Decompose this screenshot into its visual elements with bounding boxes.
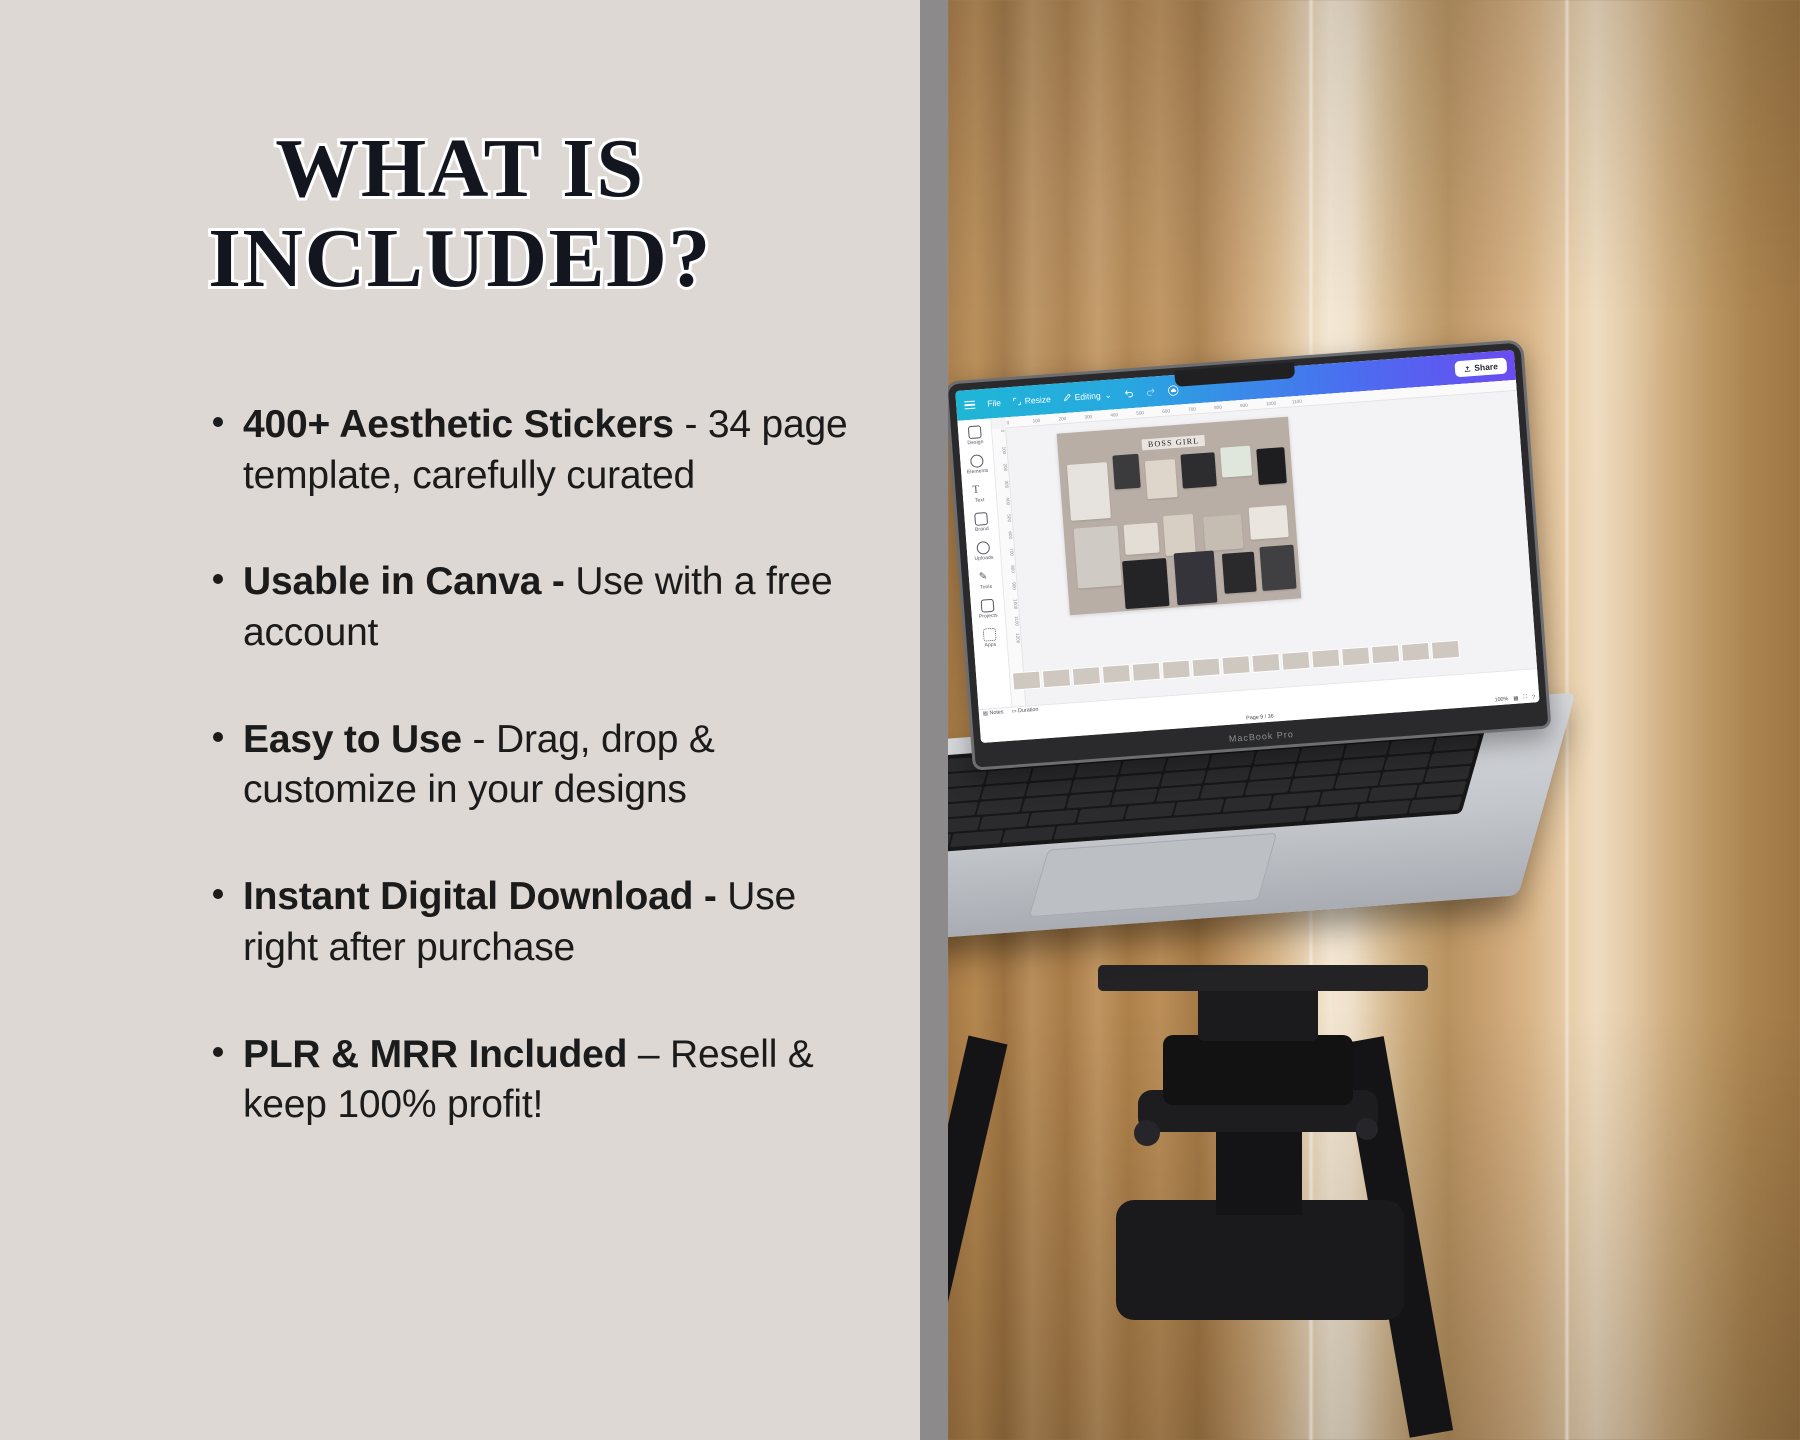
key xyxy=(1115,773,1162,789)
sidebar-item-elements[interactable]: Elements xyxy=(966,454,989,476)
ruler-tick: 0 xyxy=(992,428,1006,446)
zoom-level[interactable]: 100% xyxy=(1494,696,1508,703)
ruler-tick: 600 xyxy=(1161,407,1187,414)
text-icon: T xyxy=(972,483,986,497)
ruler-tick: 500 xyxy=(998,513,1012,531)
list-item: Easy to Use - Drag, drop & customize in … xyxy=(205,715,865,816)
key xyxy=(1200,782,1247,798)
ruler-tick: 800 xyxy=(1213,403,1239,410)
sticker[interactable] xyxy=(1112,454,1140,490)
key xyxy=(979,813,1029,830)
feature-list: 400+ Aesthetic Stickers - 34 page templa… xyxy=(205,400,865,1131)
key xyxy=(948,787,982,803)
pencil-icon xyxy=(1062,394,1071,403)
duration-button[interactable]: ▭ Duration xyxy=(1011,707,1038,715)
ruler-tick: 200 xyxy=(995,462,1009,480)
apps-icon xyxy=(983,628,997,642)
sticker[interactable] xyxy=(1220,446,1252,478)
sidebar-item-design[interactable]: Design xyxy=(966,425,984,446)
key xyxy=(1319,788,1369,805)
menu-resize[interactable]: Resize xyxy=(1012,394,1051,407)
key xyxy=(1245,779,1292,795)
key xyxy=(1070,777,1117,793)
ruler-tick: 1100 xyxy=(1006,615,1020,633)
notes-button[interactable]: ▤ Notes xyxy=(983,709,1004,716)
key xyxy=(976,799,1023,815)
page-thumbnail[interactable] xyxy=(1431,640,1460,660)
ruler-tick: 1000 xyxy=(1005,598,1019,616)
ruler-tick: 200 xyxy=(1057,414,1083,421)
sidebar-item-uploads[interactable]: Uploads xyxy=(973,541,993,562)
page-thumbnail[interactable] xyxy=(1371,644,1400,664)
key xyxy=(1025,780,1072,796)
laptop-screen: File Resize Editing ⌄ Sha xyxy=(955,350,1539,743)
bullet-dot-icon xyxy=(213,889,223,899)
sticker[interactable] xyxy=(1067,462,1111,521)
statusbar-right-controls: 100% ▦ ⛶ ? xyxy=(1494,693,1535,703)
ruler-tick: 600 xyxy=(1000,530,1014,548)
elements-icon xyxy=(970,454,984,468)
list-item-lead: 400+ Aesthetic Stickers xyxy=(243,403,674,446)
ruler-tick: 700 xyxy=(1001,547,1015,565)
panel-divider xyxy=(920,0,948,1440)
key xyxy=(1119,758,1166,774)
ruler-tick: 900 xyxy=(1003,581,1017,599)
share-upload-icon xyxy=(1464,365,1471,372)
chevron-down-icon: ⌄ xyxy=(1104,389,1112,400)
sticker[interactable] xyxy=(1203,514,1243,551)
cloud-saved-icon[interactable] xyxy=(1167,384,1179,396)
list-item: 400+ Aesthetic Stickers - 34 page templa… xyxy=(205,400,865,501)
key xyxy=(1433,735,1480,751)
notes-icon: ▤ xyxy=(983,710,989,716)
key xyxy=(1294,760,1341,776)
canva-canvas-area[interactable]: 0 100 200 300 400 500 600 700 800 900 10… xyxy=(991,380,1537,707)
resize-icon xyxy=(1013,397,1022,406)
list-item-lead: Easy to Use xyxy=(243,718,462,761)
tripod-hub xyxy=(1163,1035,1353,1105)
key xyxy=(1335,772,1382,788)
list-item: Usable in Canva - Use with a free accoun… xyxy=(205,557,865,658)
bullet-dot-icon xyxy=(213,732,223,742)
page-thumbnail[interactable] xyxy=(1401,642,1430,662)
key xyxy=(1030,765,1077,781)
sticker[interactable] xyxy=(1222,552,1257,594)
ruler-tick: 400 xyxy=(997,496,1011,514)
ruler-tick: 0 xyxy=(1005,418,1031,425)
key xyxy=(1077,806,1127,823)
key xyxy=(1388,738,1435,754)
page-thumbnail[interactable] xyxy=(1102,664,1131,684)
ruler-tick: 800 xyxy=(1002,564,1016,582)
key xyxy=(1305,804,1359,821)
sticker[interactable] xyxy=(1122,558,1169,609)
sticker[interactable] xyxy=(1259,545,1296,591)
tripod-knob xyxy=(1134,1120,1160,1146)
redo-icon[interactable] xyxy=(1145,386,1156,397)
key xyxy=(1174,799,1224,816)
ruler-tick: 300 xyxy=(996,479,1010,497)
page-thumbnail[interactable] xyxy=(1341,646,1370,666)
key xyxy=(1409,796,1463,813)
ruler-tick: 300 xyxy=(1083,412,1109,419)
bullet-dot-icon xyxy=(213,417,223,427)
page-thumbnail[interactable] xyxy=(1281,651,1310,671)
page-thumbnail[interactable] xyxy=(1191,657,1220,677)
key xyxy=(948,771,987,787)
grid-view-icon[interactable]: ▦ xyxy=(1513,695,1519,701)
key xyxy=(948,802,978,818)
sticker[interactable] xyxy=(1074,525,1122,588)
sidebar-item-text[interactable]: T Text xyxy=(972,483,986,504)
key xyxy=(1125,802,1175,819)
key xyxy=(1222,795,1272,812)
page-thumbnail[interactable] xyxy=(1251,653,1280,673)
ruler-tick: 400 xyxy=(1109,410,1135,417)
key xyxy=(1339,757,1386,773)
key xyxy=(1368,785,1418,802)
key xyxy=(1384,754,1431,770)
page-thumbnail[interactable] xyxy=(1162,660,1191,680)
key xyxy=(1416,781,1466,798)
key xyxy=(948,817,981,834)
help-icon[interactable]: ? xyxy=(1532,694,1535,700)
page-title-line-2: INCLUDED? xyxy=(60,218,860,300)
key xyxy=(1209,751,1256,767)
tools-icon: ✎ xyxy=(978,570,992,584)
laptop-mockup: MacBook Pro File Resize Editing ⌄ xyxy=(948,360,1548,1000)
list-item: PLR & MRR Included – Resell & keep 100% … xyxy=(205,1030,865,1131)
page-thumbnail[interactable] xyxy=(1072,666,1101,686)
sticker[interactable] xyxy=(1256,447,1287,485)
key xyxy=(1156,785,1203,801)
key xyxy=(1075,761,1122,777)
sticker[interactable] xyxy=(1249,505,1289,540)
key xyxy=(1290,776,1337,792)
ruler-tick: 1000 xyxy=(1265,399,1291,406)
page-thumbnail[interactable] xyxy=(1221,655,1250,675)
key xyxy=(985,768,1032,784)
key xyxy=(1429,750,1476,766)
ruler-tick: 100 xyxy=(1031,416,1057,423)
page-thumbnail[interactable] xyxy=(1042,668,1071,688)
duration-icon: ▭ xyxy=(1011,708,1017,714)
hamburger-icon[interactable] xyxy=(964,399,976,411)
key xyxy=(950,830,1004,847)
menu-editing[interactable]: Editing ⌄ xyxy=(1062,389,1112,404)
key xyxy=(981,783,1028,799)
page-thumbnail[interactable] xyxy=(1012,671,1041,691)
sidebar-item-projects[interactable]: Projects xyxy=(978,599,998,620)
key xyxy=(1254,748,1301,764)
key xyxy=(1357,800,1411,817)
statusbar-left-controls: ▤ Notes ▭ Duration xyxy=(983,707,1039,717)
brand-icon xyxy=(974,512,988,526)
page-title-line-1: WHAT IS xyxy=(60,128,860,210)
key xyxy=(1021,795,1068,811)
key xyxy=(1111,789,1158,805)
tripod-leg-left xyxy=(948,1036,1007,1435)
ruler-tick: 100 xyxy=(993,445,1007,463)
key xyxy=(1066,792,1113,808)
fullscreen-icon[interactable]: ⛶ xyxy=(1523,694,1527,701)
tripod-column xyxy=(1216,1125,1302,1215)
share-button[interactable]: Share xyxy=(1455,358,1508,378)
tripod-base xyxy=(1116,1200,1404,1320)
sticker[interactable] xyxy=(1163,514,1196,556)
key xyxy=(1249,764,1296,780)
sticker[interactable] xyxy=(1180,452,1216,488)
sidebar-item-brand[interactable]: Brand xyxy=(974,512,989,533)
key xyxy=(1343,742,1390,758)
design-title-text: BOSS GIRL xyxy=(1142,435,1206,451)
design-icon xyxy=(968,425,982,439)
key xyxy=(1205,767,1252,783)
key xyxy=(1424,766,1471,782)
key xyxy=(1002,826,1056,843)
canva-workspace: Design Elements T Text Brand xyxy=(957,380,1537,709)
product-photo: MacBook Pro File Resize Editing ⌄ xyxy=(948,0,1800,1440)
key xyxy=(1160,770,1207,786)
uploads-icon xyxy=(976,541,990,555)
sidebar-item-apps[interactable]: Apps xyxy=(983,628,997,649)
ruler-tick: 1200 xyxy=(1007,632,1021,650)
bullet-dot-icon xyxy=(213,574,223,584)
sticker[interactable] xyxy=(1123,523,1159,555)
key xyxy=(1299,745,1346,761)
ruler-tick: 700 xyxy=(1187,405,1213,412)
list-item-lead: Usable in Canva - xyxy=(243,560,565,603)
undo-icon[interactable] xyxy=(1123,388,1134,399)
page-indicator: Page 9 / 36 xyxy=(1246,714,1274,722)
ruler-tick: 900 xyxy=(1239,401,1265,408)
list-item-lead: PLR & MRR Included xyxy=(243,1033,627,1076)
list-item: Instant Digital Download - Use right aft… xyxy=(205,872,865,973)
menu-file[interactable]: File xyxy=(987,398,1001,409)
projects-icon xyxy=(981,599,995,613)
key xyxy=(1164,755,1211,771)
sidebar-item-tools[interactable]: ✎ Tools xyxy=(978,570,992,591)
tripod-knob xyxy=(1356,1118,1378,1140)
list-item-lead: Instant Digital Download - xyxy=(243,875,717,918)
page-title: WHAT IS INCLUDED? xyxy=(0,128,920,309)
left-text-panel: WHAT IS INCLUDED? 400+ Aesthetic Sticker… xyxy=(0,0,920,1440)
sticker[interactable] xyxy=(1145,459,1178,499)
design-canvas[interactable]: BOSS GIRL xyxy=(1057,417,1302,616)
page-thumbnail[interactable] xyxy=(1311,649,1340,669)
ruler-tick: 500 xyxy=(1135,408,1161,415)
key xyxy=(1271,792,1321,809)
key xyxy=(1380,769,1427,785)
page-thumbnail[interactable] xyxy=(1132,662,1161,682)
bullet-dot-icon xyxy=(213,1047,223,1057)
ruler-tick: 1100 xyxy=(1291,397,1317,404)
key xyxy=(1028,810,1078,827)
sticker[interactable] xyxy=(1174,551,1218,606)
laptop-lid: MacBook Pro File Resize Editing ⌄ xyxy=(948,339,1552,770)
